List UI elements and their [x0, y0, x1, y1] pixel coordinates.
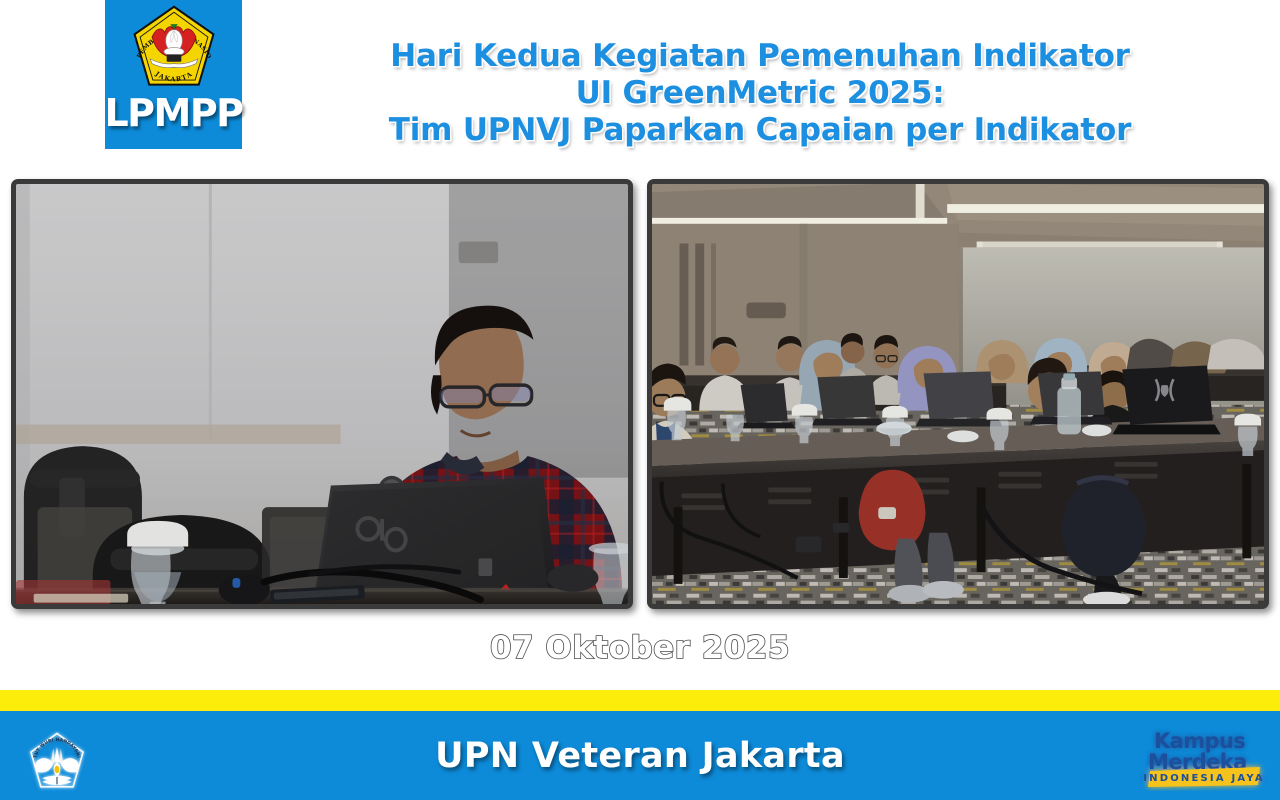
- footer-institution-name: UPN Veteran Jakarta: [0, 711, 1280, 800]
- lpmpp-logo-box: UNIVERSITAS PEMBANGUNAN NASIONAL VETERAN…: [105, 0, 242, 149]
- kampus-merdeka-logo: Kampus Merdeka INDONESIA JAYA: [1136, 721, 1268, 791]
- title-line-3: Tim UPNVJ Paparkan Capaian per Indikator: [260, 112, 1260, 149]
- photo-gallery: [0, 179, 1280, 611]
- kampus-merdeka-ribbon: INDONESIA JAYA: [1143, 773, 1265, 784]
- photo-speaker-illustration: [16, 184, 628, 604]
- photo-participants-illustration: [652, 184, 1264, 604]
- lpmpp-label: LPMPP: [104, 94, 242, 132]
- footer-banner: TUT WURI HANDAYANI UPN Veteran Jakarta K: [0, 711, 1280, 800]
- upn-veteran-jakarta-emblem: UNIVERSITAS PEMBANGUNAN NASIONAL VETERAN…: [128, 4, 220, 92]
- photo-participants-in-meeting-room: [647, 179, 1269, 609]
- title-line-1: Hari Kedua Kegiatan Pemenuhan Indikator: [260, 38, 1260, 75]
- photo-speaker-with-microphone: [11, 179, 633, 609]
- title-line-2: UI GreenMetric 2025:: [260, 75, 1260, 112]
- poster-root: UNIVERSITAS PEMBANGUNAN NASIONAL VETERAN…: [0, 0, 1280, 800]
- yellow-divider-strip: [0, 690, 1280, 711]
- event-date: 07 Oktober 2025: [0, 630, 1280, 666]
- poster-title: Hari Kedua Kegiatan Pemenuhan Indikator …: [260, 38, 1260, 149]
